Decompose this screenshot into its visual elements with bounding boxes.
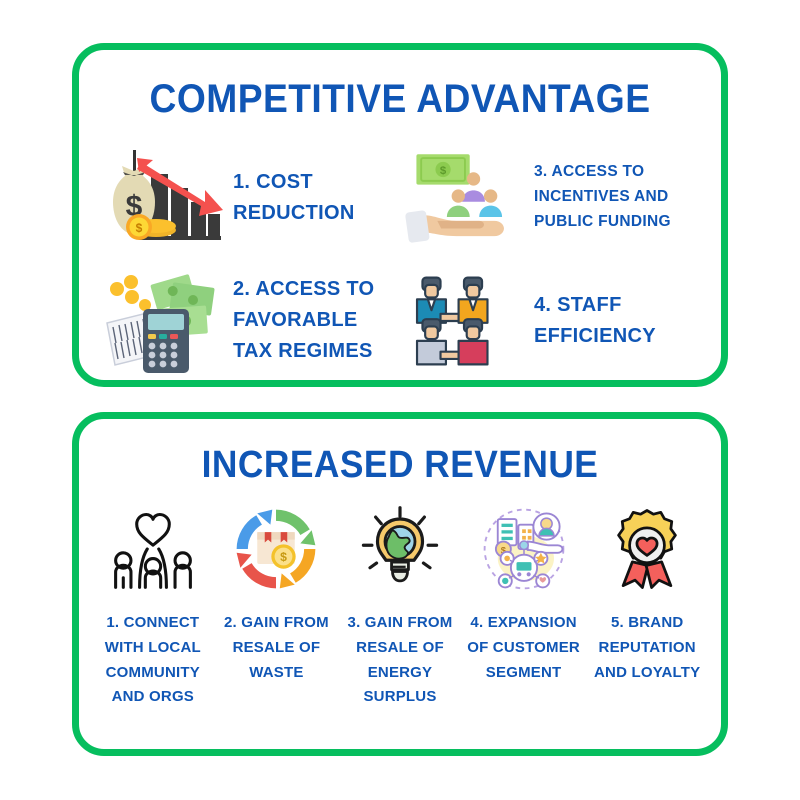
revenue-item-resale-waste[interactable]: $ 2. GAIN FROM RESALE OF WASTE (217, 501, 337, 710)
customer-segment-network-icon: $ (476, 501, 572, 597)
advantage-item-access-incentives[interactable]: $ (402, 136, 703, 259)
team-holding-hands-icon (402, 267, 526, 375)
revenue-item-resale-energy[interactable]: 3. GAIN FROM RESALE OF ENERGY SURPLUS (340, 501, 460, 710)
advantage-item-label: 2. ACCESS TO FAVORABLE TAX REGIMES (233, 274, 402, 367)
infographic-root: COMPETITIVE ADVANTAGE (0, 0, 800, 800)
revenue-item-label: 1. CONNECT WITH LOCAL COMMUNITY AND ORGS (93, 611, 213, 710)
recycle-box-dollar-icon: $ (228, 501, 324, 597)
award-rosette-heart-icon (599, 501, 695, 597)
hand-money-people-icon: $ (402, 144, 526, 252)
advantage-item-label: 1. COST REDUCTION (233, 167, 402, 229)
revenue-item-label: 3. GAIN FROM RESALE OF ENERGY SURPLUS (340, 611, 460, 710)
money-bag-declining-chart-icon: $ $ (101, 144, 225, 252)
revenue-item-label: 5. BRAND REPUTATION AND LOYALTY (587, 611, 707, 685)
card-increased-revenue: INCREASED REVENUE (72, 412, 728, 756)
calculator-banknotes-icon (101, 267, 225, 375)
revenue-item-customer-expansion[interactable]: $ (464, 501, 584, 710)
svg-text:$: $ (440, 165, 447, 177)
svg-text:$: $ (281, 550, 288, 564)
card-competitive-advantage: COMPETITIVE ADVANTAGE (72, 43, 728, 387)
advantage-item-tax-regimes[interactable]: 2. ACCESS TO FAVORABLE TAX REGIMES (101, 259, 402, 382)
advantage-item-staff-efficiency[interactable]: 4. STAFF EFFICIENCY (402, 259, 703, 382)
revenue-item-label: 2. GAIN FROM RESALE OF WASTE (217, 611, 337, 685)
lightbulb-earth-icon (352, 501, 448, 597)
advantage-item-label: 4. STAFF EFFICIENCY (534, 290, 703, 352)
competitive-advantage-item-grid: $ $ 1. COST REDUCTION (79, 122, 721, 382)
revenue-item-connect-community[interactable]: 1. CONNECT WITH LOCAL COMMUNITY AND ORGS (93, 501, 213, 710)
advantage-item-cost-reduction[interactable]: $ $ 1. COST REDUCTION (101, 136, 402, 259)
card-title-competitive-advantage: COMPETITIVE ADVANTAGE (101, 77, 698, 122)
people-heart-icon (105, 501, 201, 597)
revenue-item-label: 4. EXPANSION OF CUSTOMER SEGMENT (464, 611, 584, 685)
increased-revenue-item-grid: 1. CONNECT WITH LOCAL COMMUNITY AND ORGS (79, 487, 721, 710)
advantage-item-label: 3. ACCESS TO INCENTIVES AND PUBLIC FUNDI… (534, 160, 703, 234)
card-title-increased-revenue: INCREASED REVENUE (101, 444, 698, 487)
svg-text:$: $ (136, 221, 143, 235)
revenue-item-brand-reputation[interactable]: 5. BRAND REPUTATION AND LOYALTY (587, 501, 707, 710)
